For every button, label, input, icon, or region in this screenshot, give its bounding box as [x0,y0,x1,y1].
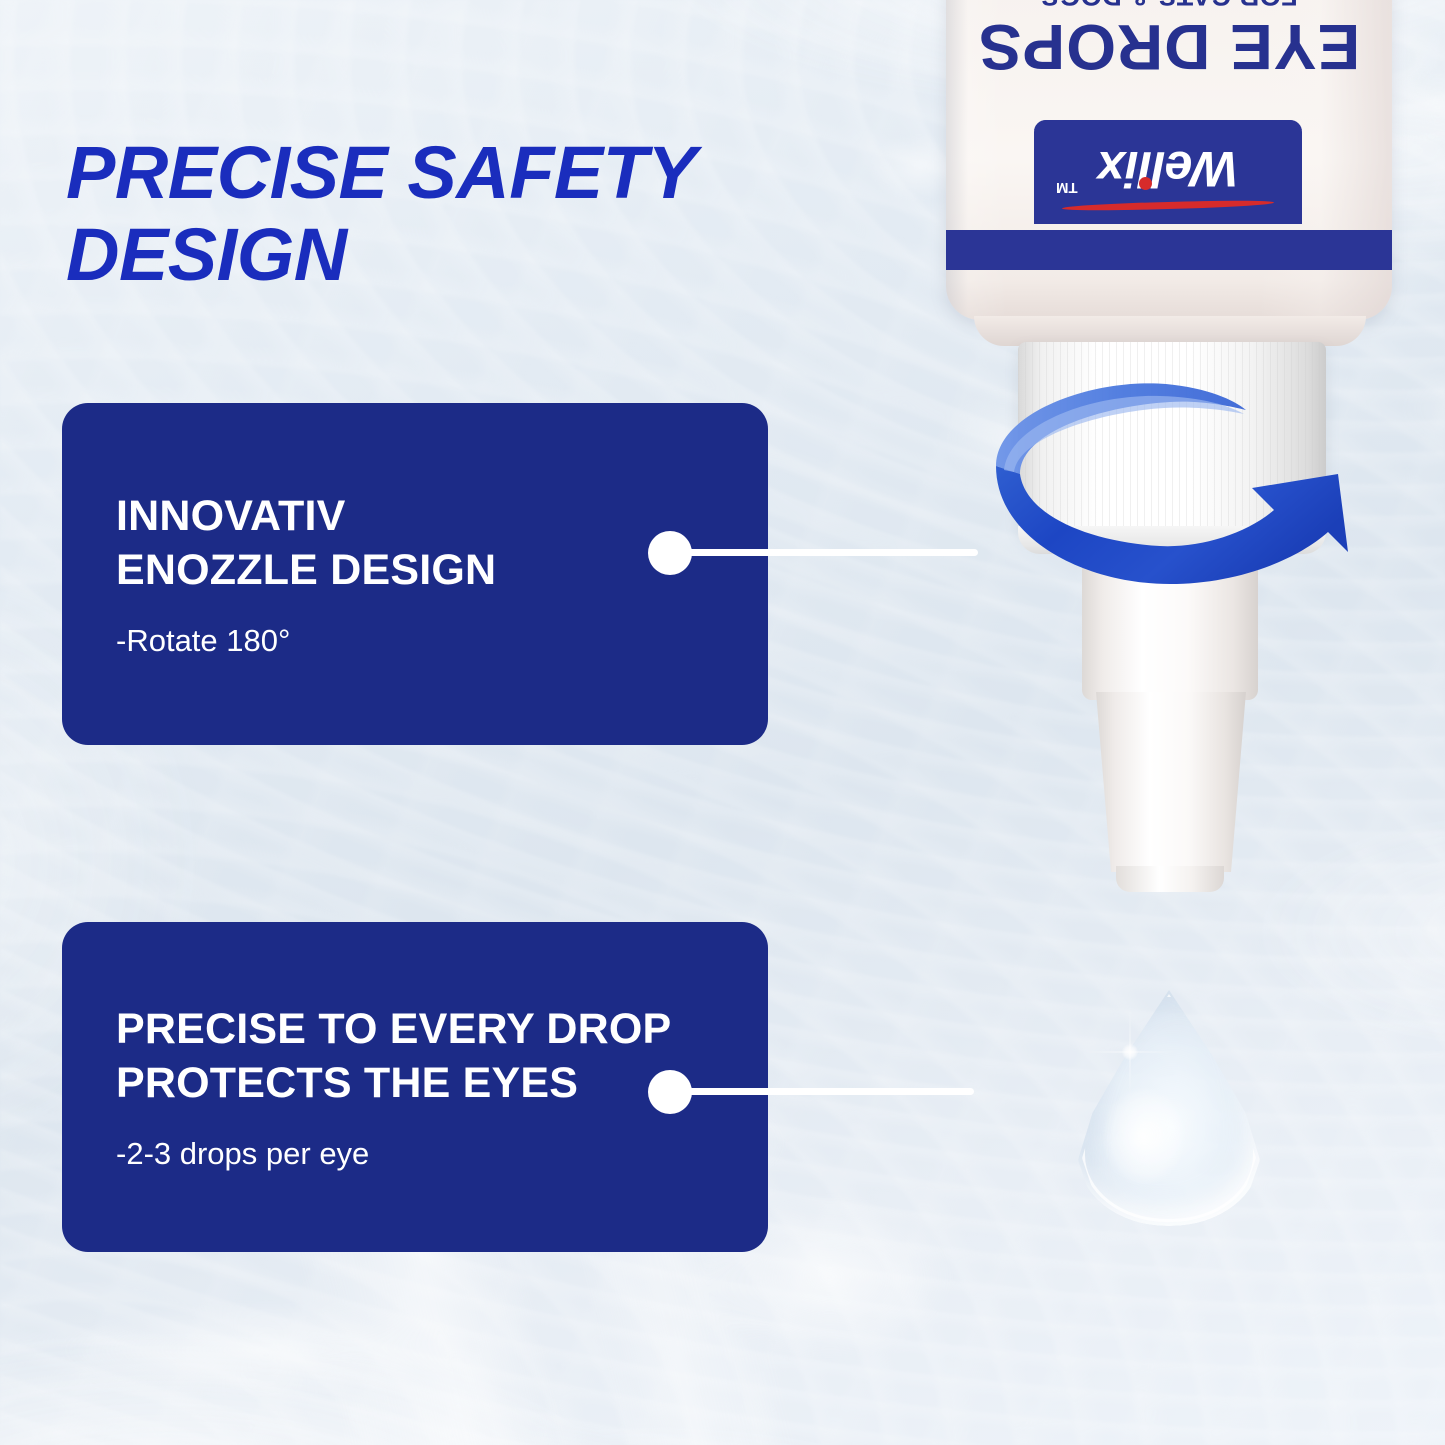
product-bottle: FOR CATS & DOGS EYE DROPS Wellix TM [940,0,1396,946]
feature-card-title: PRECISE TO EVERY DROP PROTECTS THE EYES [116,1002,714,1110]
feature-card-subtitle: -Rotate 180° [116,622,714,659]
feature-card-nozzle: INNOVATIV ENOZZLE DESIGN -Rotate 180° [62,403,768,745]
bottle-blue-band [946,230,1392,270]
sparkle-core [1122,1044,1138,1060]
product-label-title: EYE DROPS [946,10,1392,84]
bottle-cap-ribbed [1018,342,1326,536]
feature-card-title: INNOVATIV ENOZZLE DESIGN [116,489,714,597]
water-droplet-icon [1078,990,1260,1226]
page-title: PRECISE SAFETY DESIGN [66,132,946,298]
infographic-canvas: PRECISE SAFETY DESIGN INNOVATIV ENOZZLE … [0,0,1445,1445]
bottle-body: FOR CATS & DOGS EYE DROPS Wellix TM [946,0,1392,320]
brand-badge: Wellix TM [1034,120,1302,224]
nozzle-upper-section [1082,546,1258,700]
connector-line [684,549,978,556]
brand-swoosh-icon [1062,199,1274,212]
sparkle-icon [1082,1004,1178,1100]
feature-card-subtitle: -2-3 drops per eye [116,1135,714,1172]
brand-trademark: TM [1056,179,1078,196]
nozzle-tip [1116,866,1224,892]
brand-dot-icon [1139,177,1152,190]
nozzle-lower-section [1096,692,1246,872]
connector-line [684,1088,974,1095]
